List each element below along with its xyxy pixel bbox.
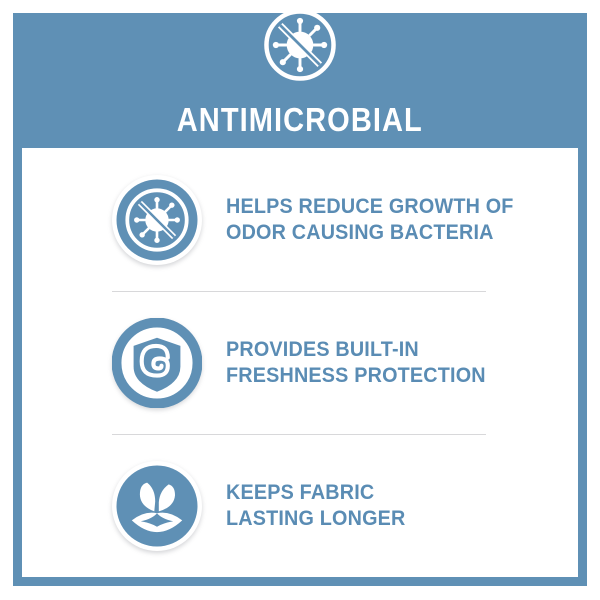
- divider: [112, 291, 486, 292]
- list-item-label-line: ODOR CAUSING BACTERIA: [226, 220, 514, 245]
- divider: [112, 434, 486, 435]
- content-panel: HELPS REDUCE GROWTH OF ODOR CAUSING BACT…: [22, 148, 578, 577]
- list-item: PROVIDES BUILT-IN FRESHNESS PROTECTION: [22, 291, 578, 434]
- header-band: ANTIMICROBIAL: [13, 13, 587, 148]
- list-item-label-line: KEEPS FABRIC: [226, 480, 406, 505]
- list-item-label: PROVIDES BUILT-IN FRESHNESS PROTECTION: [226, 337, 486, 387]
- page-title: ANTIMICROBIAL: [177, 103, 423, 148]
- list-item-label-line: FRESHNESS PROTECTION: [226, 363, 486, 388]
- antimicrobial-infographic: ANTIMICROBIAL: [0, 0, 600, 600]
- list-item-label-line: PROVIDES BUILT-IN: [226, 337, 486, 362]
- feature-list: HELPS REDUCE GROWTH OF ODOR CAUSING BACT…: [22, 148, 578, 577]
- list-item: HELPS REDUCE GROWTH OF ODOR CAUSING BACT…: [22, 148, 578, 291]
- shield-swirl-icon: [112, 318, 202, 408]
- list-item: KEEPS FABRIC LASTING LONGER: [22, 434, 578, 577]
- list-item-label-line: HELPS REDUCE GROWTH OF: [226, 194, 514, 219]
- no-germ-icon: [257, 2, 343, 88]
- list-item-label: HELPS REDUCE GROWTH OF ODOR CAUSING BACT…: [226, 194, 514, 244]
- list-item-label: KEEPS FABRIC LASTING LONGER: [226, 480, 406, 530]
- no-germ-icon: [112, 175, 202, 265]
- leaf-sprout-icon: [112, 461, 202, 551]
- list-item-label-line: LASTING LONGER: [226, 506, 406, 531]
